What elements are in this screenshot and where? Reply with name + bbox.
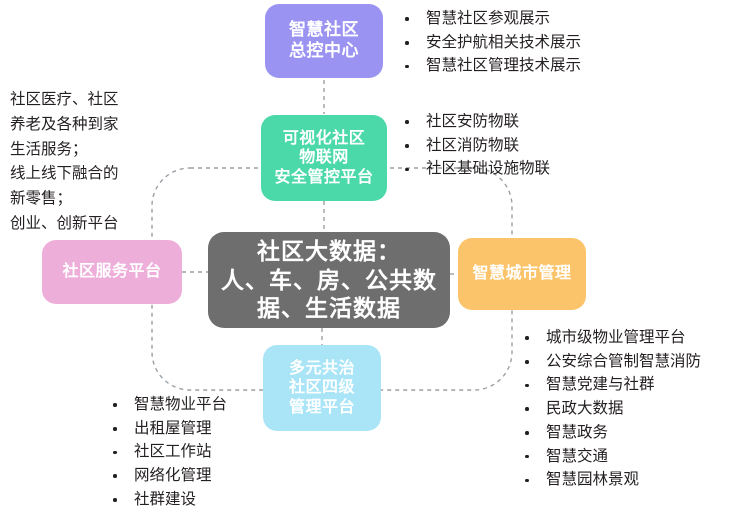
list-item: 智慧园林景观 [520, 468, 701, 492]
note-line: 创业、创新平台 [10, 212, 119, 237]
node-iot-platform-label: 可视化社区 物联网 安全管控平台 [274, 129, 373, 188]
node-control-center-label: 智慧社区 总控中心 [289, 20, 359, 61]
node-service-platform-label: 社区服务平台 [62, 262, 161, 282]
note-line: 生活服务； [10, 138, 119, 163]
node-smart-city-management[interactable]: 智慧城市管理 [458, 238, 586, 310]
node-visual-community-iot-security-platform[interactable]: 可视化社区 物联网 安全管控平台 [261, 115, 387, 201]
list-item: 社区消防物联 [400, 134, 550, 158]
list-item: 智慧社区参观展示 [400, 7, 581, 31]
note-community-service-platform: 社区医疗、社区 养老及各种到家 生活服务； 线上线下融合的 新零售； 创业、创新… [10, 88, 119, 237]
bullet-list-city-management: 城市级物业管理平台 公安综合管制智慧消防 智慧党建与社群 民政大数据 智慧政务 … [520, 326, 701, 492]
note-line: 养老及各种到家 [10, 113, 119, 138]
note-line: 社区医疗、社区 [10, 88, 119, 113]
node-community-big-data-center[interactable]: 社区大数据： 人、车、房、公共数 据、生活数据 [208, 232, 450, 328]
list-item: 城市级物业管理平台 [520, 326, 701, 350]
node-city-management-label: 智慧城市管理 [472, 264, 571, 284]
note-line: 新零售； [10, 187, 119, 212]
list-item: 智慧社区管理技术展示 [400, 54, 581, 78]
list-item: 智慧物业平台 [108, 393, 227, 417]
list-item: 社群建设 [108, 488, 227, 512]
list-item: 社区基础设施物联 [400, 157, 550, 181]
list-item: 智慧政务 [520, 421, 701, 445]
bullet-list-control-center: 智慧社区参观展示 安全护航相关技术展示 智慧社区管理技术展示 [400, 7, 581, 78]
list-item: 社区安防物联 [400, 110, 550, 134]
node-smart-community-control-center[interactable]: 智慧社区 总控中心 [265, 4, 383, 78]
list-item: 智慧党建与社群 [520, 373, 701, 397]
list-item: 安全护航相关技术展示 [400, 31, 581, 55]
node-community-service-platform[interactable]: 社区服务平台 [42, 240, 182, 304]
list-item: 出租屋管理 [108, 417, 227, 441]
note-line: 线上线下融合的 [10, 162, 119, 187]
list-item: 公安综合管制智慧消防 [520, 350, 701, 374]
diagram-canvas: 智慧社区 总控中心 可视化社区 物联网 安全管控平台 社区服务平台 智慧城市管理… [0, 0, 740, 512]
node-four-level-platform-label: 多元共治 社区四级 管理平台 [289, 359, 355, 418]
node-four-level-governance-platform[interactable]: 多元共治 社区四级 管理平台 [263, 345, 381, 431]
list-item: 智慧交通 [520, 445, 701, 469]
list-item: 社区工作站 [108, 440, 227, 464]
list-item: 民政大数据 [520, 397, 701, 421]
bullet-list-four-level-platform: 智慧物业平台 出租屋管理 社区工作站 网络化管理 社群建设 [108, 393, 227, 512]
node-big-data-label: 社区大数据： 人、车、房、公共数 据、生活数据 [221, 237, 437, 323]
list-item: 网络化管理 [108, 464, 227, 488]
bullet-list-iot-platform: 社区安防物联 社区消防物联 社区基础设施物联 [400, 110, 550, 181]
